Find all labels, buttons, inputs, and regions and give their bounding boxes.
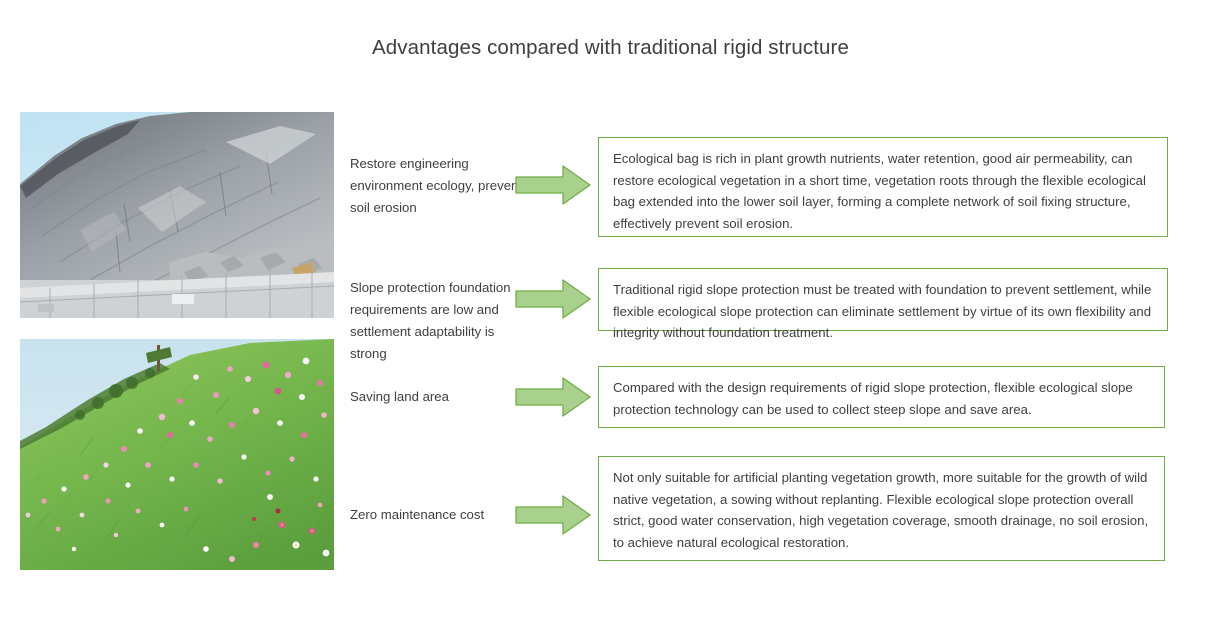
rocky-cut-slope-photo (20, 112, 334, 318)
description-text-2: Compared with the design requirements of… (613, 377, 1150, 420)
vegetated-flowering-slope-photo (20, 339, 334, 570)
row-label-2: Saving land area (350, 386, 526, 408)
row-label-3: Zero maintenance cost (350, 504, 526, 526)
right-arrow-icon (515, 278, 591, 320)
page-title: Advantages compared with traditional rig… (0, 36, 1221, 60)
right-arrow-icon (515, 164, 591, 206)
description-text-1: Traditional rigid slope protection must … (613, 279, 1153, 344)
right-arrow-icon (515, 494, 591, 536)
description-text-3: Not only suitable for artificial plantin… (613, 467, 1150, 553)
description-text-0: Ecological bag is rich in plant growth n… (613, 148, 1153, 234)
description-box-1: Traditional rigid slope protection must … (598, 268, 1168, 331)
description-box-3: Not only suitable for artificial plantin… (598, 456, 1165, 561)
slide-canvas: Advantages compared with traditional rig… (0, 0, 1221, 622)
right-arrow-icon (515, 376, 591, 418)
description-box-0: Ecological bag is rich in plant growth n… (598, 137, 1168, 237)
row-label-1: Slope protection foundation requirements… (350, 277, 526, 365)
description-box-2: Compared with the design requirements of… (598, 366, 1165, 428)
row-label-0: Restore engineering environment ecology,… (350, 153, 526, 219)
